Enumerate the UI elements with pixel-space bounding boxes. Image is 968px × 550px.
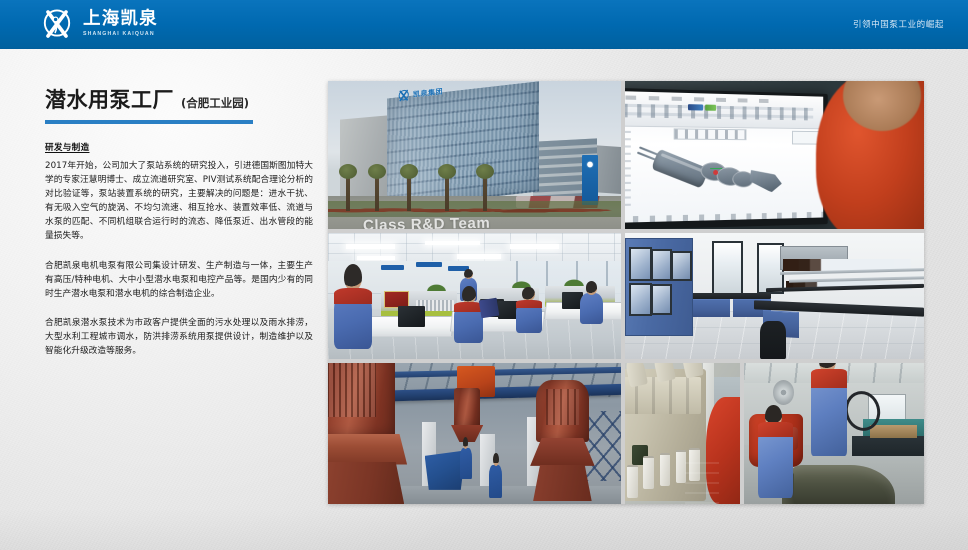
ceiling-light bbox=[425, 241, 481, 245]
engine-base-frame bbox=[685, 462, 720, 504]
status-bar bbox=[625, 212, 823, 223]
pump-volute-cone bbox=[746, 168, 783, 196]
cad-ribbon-toolbar bbox=[625, 91, 823, 129]
diesel-engine-image bbox=[625, 363, 740, 504]
paragraph-3: 合肥凯泉潜水泵技术为市政客户提供全面的污水处理以及雨水排涝，大型水利工程城市调水… bbox=[45, 316, 313, 358]
hanging-sign bbox=[416, 262, 442, 267]
office-building-image: 凯泉集团 Class R&D Team bbox=[328, 81, 621, 229]
large-pump-volute bbox=[328, 434, 407, 465]
photo-office-building: 凯泉集团 Class R&D Team bbox=[328, 81, 621, 229]
ceiling-light bbox=[346, 244, 396, 248]
monitor-screen bbox=[625, 91, 823, 223]
cabinet-glass-door bbox=[629, 247, 653, 282]
large-submersible-pump bbox=[328, 363, 395, 436]
rd-office-image bbox=[328, 233, 621, 359]
office-staff bbox=[454, 302, 483, 342]
palm-tree bbox=[445, 173, 449, 211]
ceiling-light bbox=[357, 256, 395, 260]
office-staff bbox=[580, 293, 603, 323]
paragraph-2: 合肥凯泉电机电泵有限公司集设计研发、生产制造与一体，主要生产有高压/特种电机、大… bbox=[45, 259, 313, 301]
palm-tree bbox=[407, 173, 411, 211]
steel-scaffold bbox=[586, 411, 621, 482]
logo-chinese-name: 上海凯泉 bbox=[83, 11, 158, 29]
crouching-technician bbox=[758, 422, 792, 498]
entrance-signboard bbox=[582, 155, 598, 205]
green-tool-icon bbox=[705, 105, 715, 112]
photo-cad-design bbox=[625, 81, 924, 229]
company-logo: 上海凯泉 SHANGHAI KAIQUAN bbox=[42, 8, 158, 40]
right-submersible-pump bbox=[536, 380, 589, 442]
page-title: 潜水用泵工厂 (合肥工业园) bbox=[45, 84, 313, 114]
kaiquan-logo-icon bbox=[42, 9, 76, 40]
under-bench-cabinet bbox=[691, 299, 730, 318]
large-pump-plinth bbox=[328, 462, 404, 504]
pump-assembly-image bbox=[744, 363, 924, 504]
page-title-main: 潜水用泵工厂 bbox=[45, 84, 174, 114]
oil-filter bbox=[660, 453, 670, 486]
cabinet-glass-door bbox=[651, 284, 672, 315]
page-title-sub: (合肥工业园) bbox=[181, 95, 249, 111]
lab-chair bbox=[760, 321, 787, 359]
factory-worker bbox=[460, 448, 472, 479]
header-slogan: 引领中国泵工业的崛起 bbox=[853, 0, 944, 48]
logo-wordmark: 上海凯泉 SHANGHAI KAIQUAN bbox=[83, 11, 158, 37]
photo-gallery: 凯泉集团 Class R&D Team bbox=[328, 81, 924, 504]
palm-tree bbox=[483, 173, 487, 211]
pump-hall-image bbox=[328, 363, 621, 504]
photo-rd-office bbox=[328, 233, 621, 359]
factory-worker bbox=[489, 465, 502, 499]
cad-design-image bbox=[625, 81, 924, 229]
hanging-sign bbox=[381, 265, 404, 270]
cabinet-glass-door bbox=[629, 283, 653, 316]
photo-row-bottom-right bbox=[625, 363, 924, 504]
oil-filter bbox=[627, 465, 637, 498]
medium-submersible-pump bbox=[454, 388, 480, 427]
slide-header-bar: 上海凯泉 SHANGHAI KAIQUAN 引领中国泵工业的崛起 bbox=[0, 0, 968, 49]
storage-cabinet bbox=[625, 238, 693, 336]
model-feature-tree bbox=[625, 131, 631, 210]
cabinet-glass-door bbox=[651, 249, 672, 282]
bottom-right-split bbox=[625, 363, 924, 504]
office-staff bbox=[516, 300, 542, 333]
desktop-monitor bbox=[398, 306, 424, 327]
photo-diesel-engine bbox=[625, 363, 740, 504]
oil-filter bbox=[643, 456, 653, 489]
monitor-bezel bbox=[625, 88, 828, 229]
photo-pump-assembly bbox=[744, 363, 924, 504]
ceiling-light bbox=[457, 254, 501, 258]
ribbon-icons bbox=[625, 104, 814, 122]
palm-tree bbox=[346, 173, 350, 211]
cabinet-glass-door bbox=[671, 251, 692, 282]
office-staff bbox=[334, 288, 372, 348]
paragraph-1: 2017年开始，公司加大了泵站系统的研究投入，引进德国斯图加特大学的专家汪慧明博… bbox=[45, 159, 313, 244]
ribbon-tabs bbox=[625, 95, 773, 103]
palm-tree bbox=[375, 173, 379, 211]
wooden-workbench bbox=[870, 425, 917, 438]
lab-window bbox=[712, 241, 743, 295]
section-heading: 研发与制造 bbox=[45, 141, 313, 153]
photo-pump-hall bbox=[328, 363, 621, 504]
logo-english-name: SHANGHAI KAIQUAN bbox=[83, 32, 158, 37]
gallery-caption-overlay: Class R&D Team bbox=[363, 215, 491, 229]
right-pump-base bbox=[533, 465, 592, 502]
title-underline-rule bbox=[45, 120, 253, 124]
standing-technician bbox=[811, 369, 847, 456]
text-column: 潜水用泵工厂 (合肥工业园) 研发与制造 2017年开始，公司加大了泵站系统的研… bbox=[45, 84, 313, 367]
pump-exploded-model bbox=[634, 136, 808, 210]
document-folder bbox=[479, 297, 499, 317]
presentation-slide: 上海凯泉 SHANGHAI KAIQUAN 引领中国泵工业的崛起 潜水用泵工厂 … bbox=[0, 0, 968, 550]
photo-laboratory bbox=[625, 233, 924, 359]
ceiling-light bbox=[510, 244, 560, 248]
laboratory-image bbox=[625, 233, 924, 359]
